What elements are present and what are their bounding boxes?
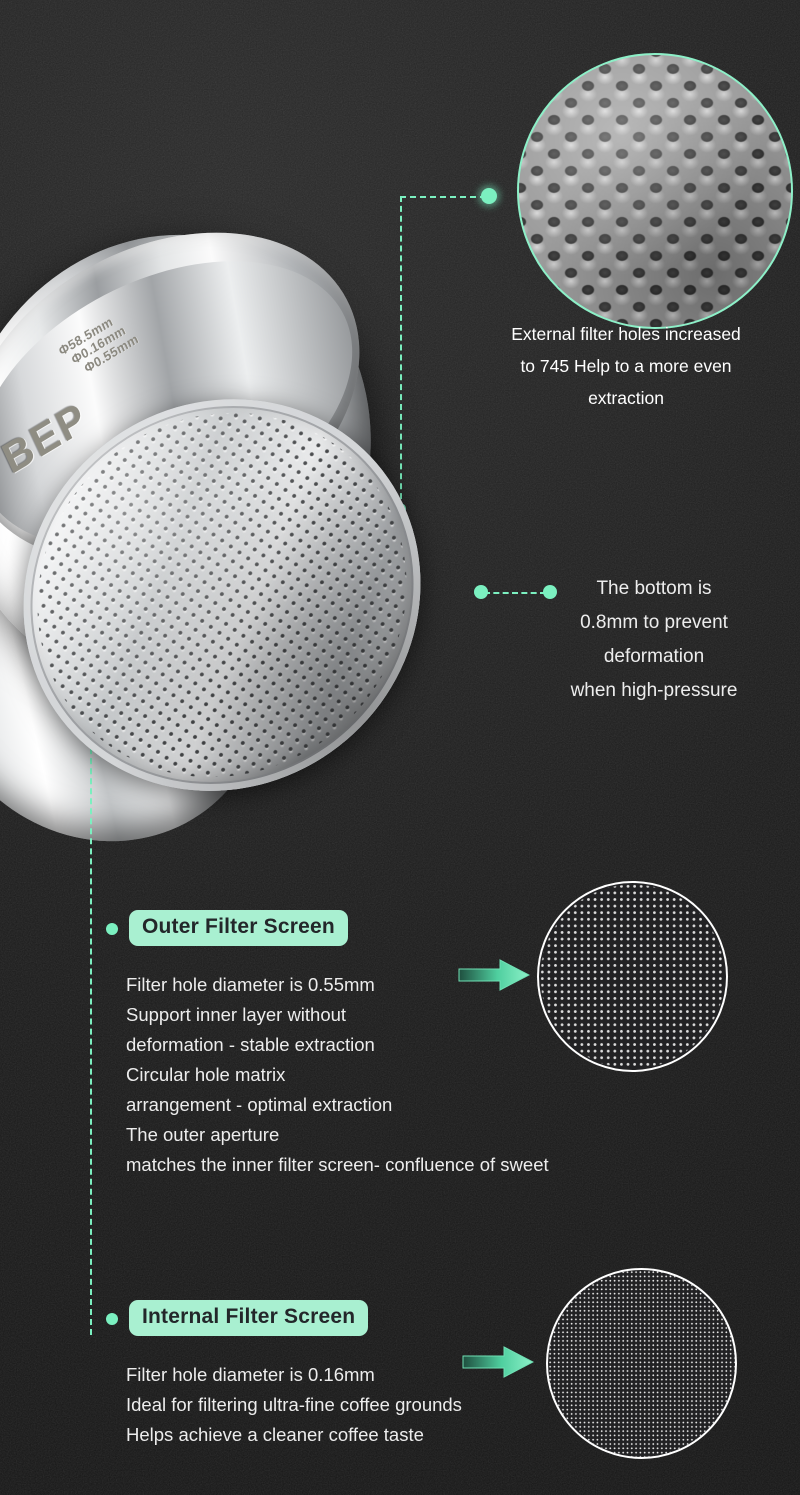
connector-endpoint-macro <box>481 188 497 204</box>
outer-screen-hole-pattern <box>539 883 726 1070</box>
macro-filter-holes-inset <box>517 53 793 329</box>
section-line: The outer aperture <box>126 1120 549 1150</box>
arrow-to-outer-screen-icon <box>458 958 530 992</box>
callout-line: External filter holes increased <box>466 318 786 350</box>
section-body-internal-filter-screen: Filter hole diameter is 0.16mm Ideal for… <box>126 1360 462 1450</box>
section-line: Helps achieve a cleaner coffee taste <box>126 1420 462 1450</box>
bullet-dot-outer-section <box>106 923 118 935</box>
portafilter-basket-image: BEP Φ58.5mm Φ0.16mm Φ0.55mm <box>0 243 508 843</box>
outer-filter-screen-sample <box>537 881 728 1072</box>
section-line: deformation - stable extraction <box>126 1030 549 1060</box>
callout-line: 0.8mm to prevent <box>520 606 788 640</box>
section-line: arrangement - optimal extraction <box>126 1090 549 1120</box>
section-line: Support inner layer without <box>126 1000 549 1030</box>
macro-shading <box>519 55 791 327</box>
internal-filter-screen-sample <box>546 1268 737 1459</box>
callout-line: extraction <box>466 382 786 414</box>
section-line: matches the inner filter screen- conflue… <box>126 1150 549 1180</box>
connector-line-horizontal-top <box>400 196 486 198</box>
callout-external-holes: External filter holes increased to 745 H… <box>466 318 786 414</box>
callout-bottom-thickness: The bottom is 0.8mm to prevent deformati… <box>520 572 788 708</box>
callout-line: to 745 Help to a more even <box>466 350 786 382</box>
callout-line: deformation <box>520 640 788 674</box>
section-line: Circular hole matrix <box>126 1060 549 1090</box>
section-badge-internal-filter-screen: Internal Filter Screen <box>129 1300 368 1336</box>
internal-screen-hole-pattern <box>548 1270 735 1457</box>
section-line: Ideal for filtering ultra-fine coffee gr… <box>126 1390 462 1420</box>
bullet-dot-internal-section <box>106 1313 118 1325</box>
section-body-outer-filter-screen: Filter hole diameter is 0.55mm Support i… <box>126 970 549 1180</box>
section-line: Filter hole diameter is 0.16mm <box>126 1360 462 1390</box>
section-badge-outer-filter-screen: Outer Filter Screen <box>129 910 348 946</box>
callout-line: The bottom is <box>520 572 788 606</box>
arrow-to-internal-screen-icon <box>462 1345 534 1379</box>
callout-line: when high-pressure <box>520 674 788 708</box>
